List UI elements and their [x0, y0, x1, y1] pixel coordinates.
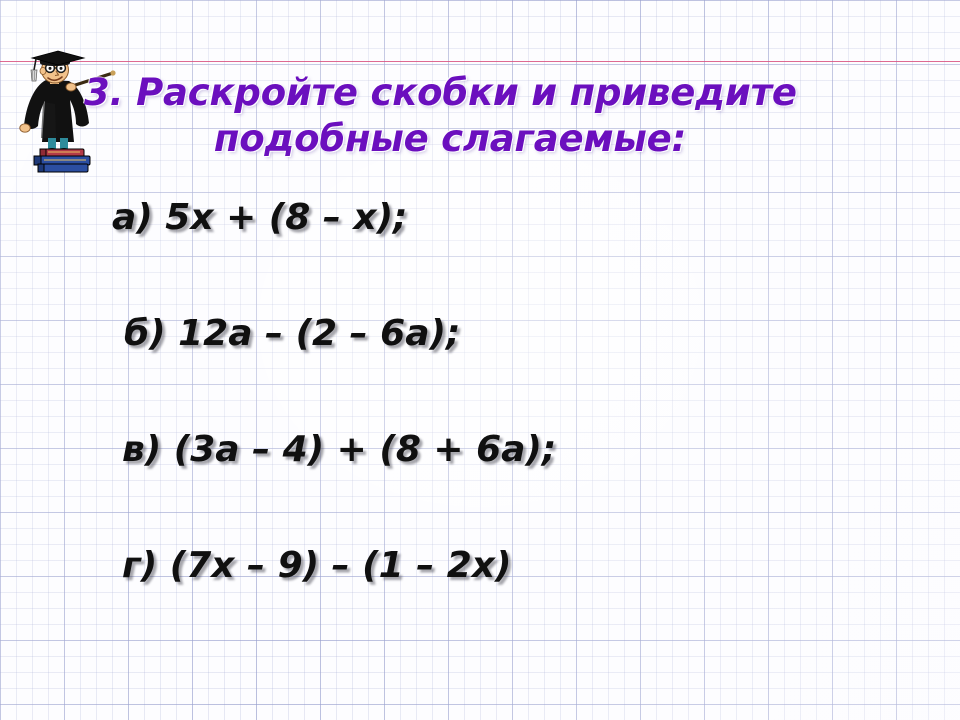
equation-item-b: б) 12а – (2 – 6а);	[124, 312, 960, 356]
equation-item-v: в) (3а – 4) + (8 + 6а);	[122, 428, 960, 472]
margin-rule-line	[0, 61, 960, 62]
page-title: 3. Раскройте скобки и приведите подобные…	[80, 70, 940, 162]
title-line-2: подобные слагаемые:	[80, 116, 940, 162]
equation-item-g: г) (7х – 9) – (1 – 2х)	[122, 544, 960, 588]
title-line-1: 3. Раскройте скобки и приведите	[80, 70, 940, 116]
equation-list: а) 5х + (8 – х); б) 12а – (2 – 6а); в) (…	[0, 196, 960, 588]
slide-canvas: 3. Раскройте скобки и приведите подобные…	[0, 0, 960, 720]
equation-item-a: а) 5х + (8 – х);	[112, 196, 960, 240]
